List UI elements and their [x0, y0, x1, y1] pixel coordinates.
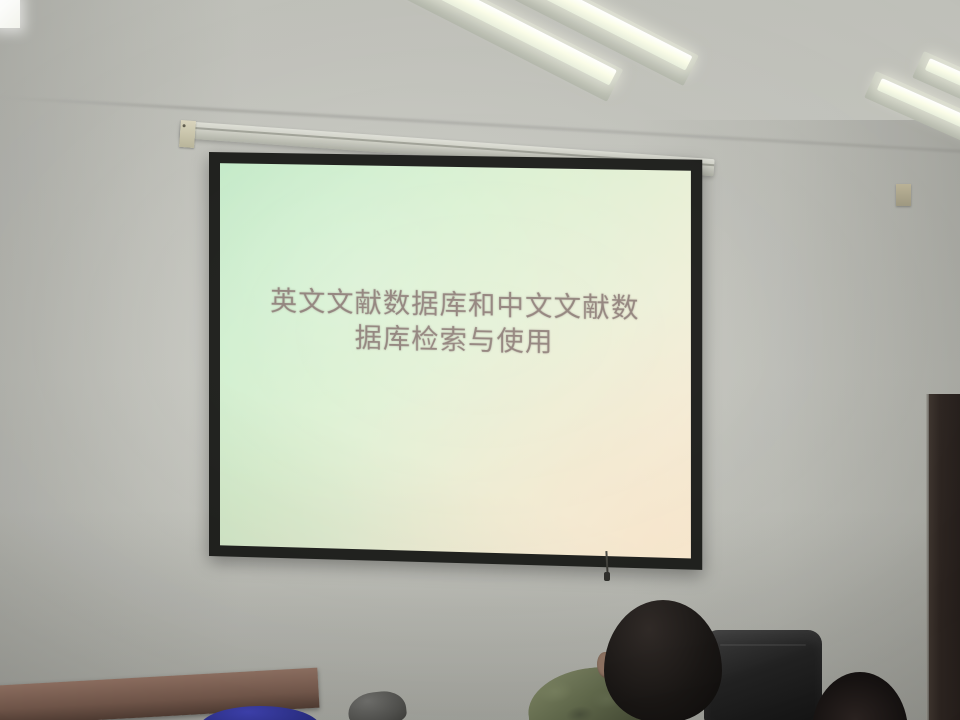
screen-mount-bracket: [179, 120, 196, 148]
slide-title: 英文文献数据库和中文文献数 据库检索与使用: [220, 283, 691, 364]
door-panel[interactable]: [929, 394, 960, 720]
slide-title-line-1: 英文文献数据库和中文文献数: [270, 286, 639, 324]
corner-light-patch: [0, 0, 20, 28]
chair-seam: [720, 644, 806, 646]
screen-pull-cord-handle[interactable]: [604, 572, 610, 581]
classroom-photo: Redleaf 英文文献数据库和中文文献数 据库检索与使用: [0, 0, 960, 720]
bracket-screw-icon: [182, 124, 185, 127]
projection-screen-frame: 英文文献数据库和中文文献数 据库检索与使用: [209, 152, 702, 570]
wall-outlet[interactable]: [896, 184, 911, 206]
projection-screen-surface: 英文文献数据库和中文文献数 据库检索与使用: [220, 163, 691, 558]
